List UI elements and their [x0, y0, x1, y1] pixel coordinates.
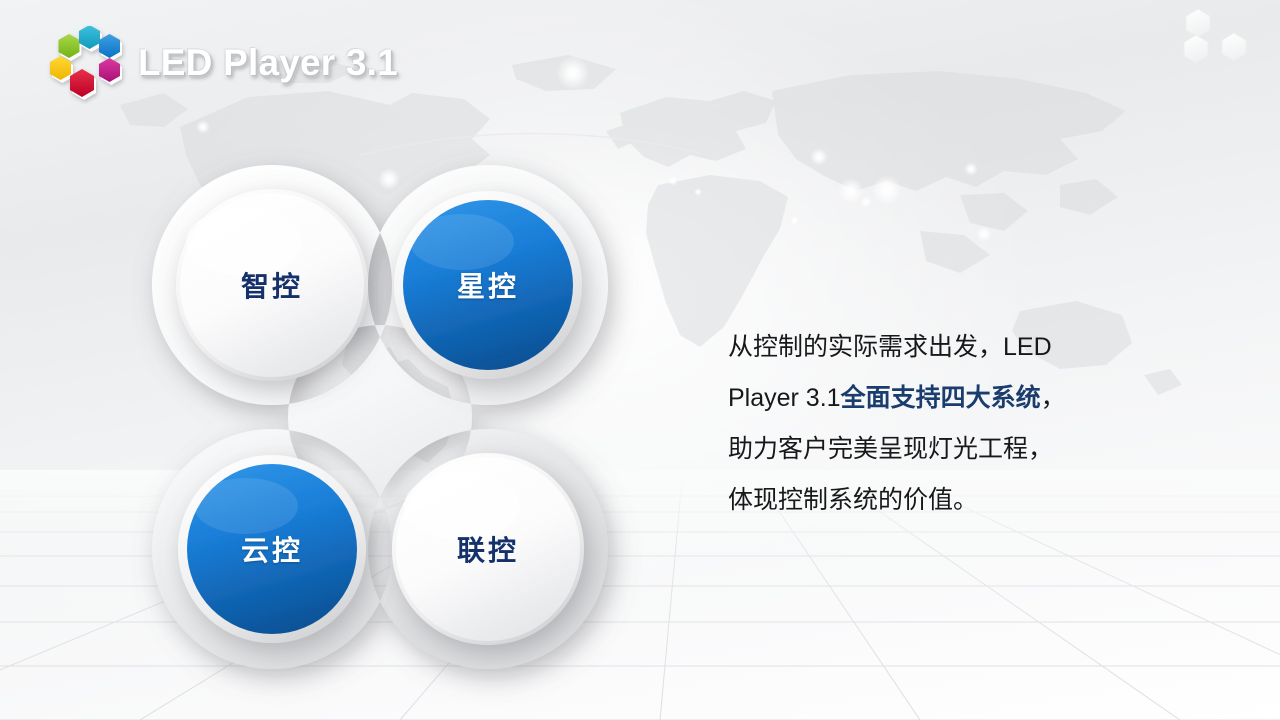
map-glow-dot: [838, 178, 864, 204]
map-glow-dot: [872, 175, 902, 205]
copy-highlight: 全面支持四大系统: [841, 384, 1041, 412]
page-title: LED Player 3.1: [138, 42, 398, 84]
slide-header: LED Player 3.1: [0, 0, 1280, 110]
hexagon-trio-decoration-icon: [1166, 6, 1262, 84]
slide-canvas: LED Player 3.1: [0, 0, 1280, 720]
copy-line-4: 体现控制系统的价值。: [728, 475, 1148, 526]
copy-line-2-prefix: Player 3.1: [728, 384, 841, 412]
copy-line-3: 助力客户完美呈现灯光工程，: [728, 424, 1148, 475]
map-glow-dot: [196, 120, 210, 134]
map-glow-dot: [964, 162, 978, 176]
hexagon-ring-logo-icon: [40, 26, 132, 100]
diagram-node-yunkong: [178, 455, 366, 643]
map-glow-dot: [790, 216, 799, 225]
map-glow-dot: [976, 226, 992, 242]
diagram-node-liankong: [392, 453, 584, 645]
diagram-node-zhikong: [176, 189, 368, 381]
map-glow-dot: [810, 148, 828, 166]
copy-line-2: Player 3.1全面支持四大系统，: [728, 373, 1148, 424]
diagram-node-xingkong: [394, 191, 582, 379]
map-glow-dot: [668, 176, 678, 186]
four-node-ring-diagram: 智控 星控 云控 联控: [110, 150, 650, 690]
map-glow-dot: [860, 196, 872, 208]
copy-line-1: 从控制的实际需求出发，LED: [728, 322, 1148, 373]
map-glow-dot: [694, 188, 702, 196]
copy-line-2-suffix: ，: [1041, 384, 1066, 412]
description-paragraph: 从控制的实际需求出发，LED Player 3.1全面支持四大系统， 助力客户完…: [728, 322, 1148, 526]
